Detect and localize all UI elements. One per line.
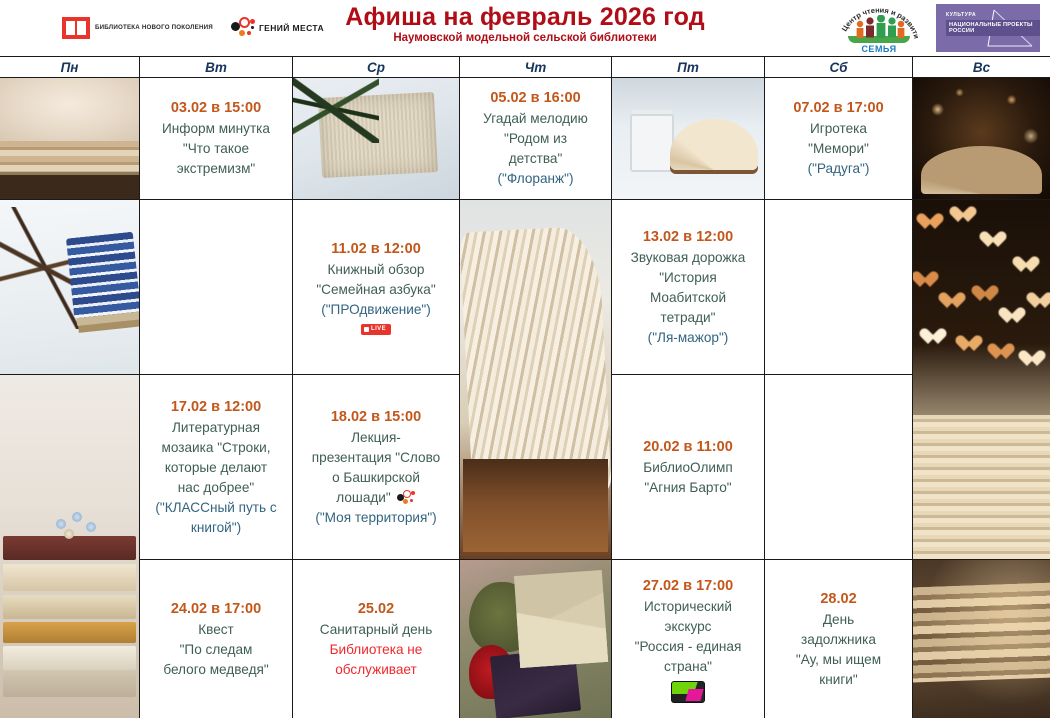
weekday-header-sun: Вс bbox=[913, 57, 1050, 77]
event-title-line: мозаика "Строки, bbox=[161, 438, 270, 458]
weekday-header-thu: Чт bbox=[460, 57, 612, 77]
photo-wartime-letters-canteen-and-carnation bbox=[460, 560, 611, 718]
calendar-cell-wed-4[interactable]: 25.02 Санитарный день Библиотека не обсл… bbox=[293, 560, 460, 718]
event-title-line: "Что такое bbox=[183, 139, 249, 159]
weekday-header-fri: Пт bbox=[612, 57, 765, 77]
event-title-line: Исторический bbox=[644, 597, 732, 617]
family-figures-icon bbox=[852, 15, 908, 41]
event-title-line: Литературная bbox=[172, 418, 260, 438]
event-title-line: "Родом из bbox=[504, 129, 567, 149]
event-title-line: лошади" bbox=[336, 488, 390, 508]
event-title-line: задолжника bbox=[801, 630, 876, 650]
calendar-cell-thu-4 bbox=[460, 560, 612, 718]
dots-cluster-icon bbox=[231, 17, 255, 39]
event-club: ("Ля-мажор") bbox=[648, 328, 729, 348]
event-card[interactable]: 13.02 в 12:00 Звуковая дорожка "История … bbox=[612, 200, 764, 374]
event-title-line: День bbox=[823, 610, 854, 630]
event-title-line: "История bbox=[659, 268, 717, 288]
event-title-line: которые делают bbox=[165, 458, 267, 478]
family-center-word: СЕМЬЯ bbox=[836, 44, 922, 54]
calendar-cell-fri-2[interactable]: 13.02 в 12:00 Звуковая дорожка "История … bbox=[612, 200, 765, 375]
event-card[interactable]: 25.02 Санитарный день Библиотека не обсл… bbox=[293, 560, 459, 718]
calendar-cell-sat-2 bbox=[765, 200, 913, 375]
library-new-generation-label: БИБЛИОТЕКА НОВОГО ПОКОЛЕНИЯ bbox=[95, 24, 213, 32]
calendar-cell-tue-2 bbox=[140, 200, 293, 375]
event-date: 28.02 bbox=[820, 589, 856, 609]
event-title-line: "Россия - единая bbox=[635, 637, 742, 657]
weekday-header-sat: Сб bbox=[765, 57, 913, 77]
photo-lantern-and-open-book-on-snow bbox=[612, 78, 764, 199]
calendar-grid: 03.02 в 15:00 Информ минутка "Что такое … bbox=[0, 78, 1050, 718]
photo-stacked-books-in-warm-light bbox=[913, 560, 1050, 718]
poster-root: БИБЛИОТЕКА НОВОГО ПОКОЛЕНИЯ ГЕНИЙ МЕСТА … bbox=[0, 0, 1050, 718]
event-alert-line: Библиотека не bbox=[330, 640, 423, 660]
family-center-logo: Центр чтения и развития bbox=[836, 1, 922, 55]
event-title-line: страна" bbox=[664, 657, 712, 677]
national-projects-label: НАЦИОНАЛЬНЫЕ ПРОЕКТЫ РОССИИ bbox=[946, 20, 1040, 36]
event-club: ("Моя территория") bbox=[315, 508, 436, 528]
event-title-line: Квест bbox=[198, 620, 234, 640]
event-date: 05.02 в 16:00 bbox=[490, 88, 580, 108]
open-book-icon bbox=[62, 17, 90, 39]
event-title-line: Лекция- bbox=[351, 428, 401, 448]
event-alert-line: обслуживает bbox=[335, 660, 417, 680]
event-date: 03.02 в 15:00 bbox=[171, 98, 261, 118]
calendar-cell-sat-4[interactable]: 28.02 День задолжника "Ау, мы ищем книги… bbox=[765, 560, 913, 718]
photo-stacked-books-with-dried-flowers bbox=[0, 375, 139, 718]
calendar-cell-tue-4[interactable]: 24.02 в 17:00 Квест "По следам белого ме… bbox=[140, 560, 293, 718]
event-badges: LIVE bbox=[361, 324, 391, 335]
event-date: 07.02 в 17:00 bbox=[793, 98, 883, 118]
event-club: ("ПРОдвижение") bbox=[321, 300, 431, 320]
genius-of-place-icon bbox=[397, 490, 416, 505]
poster-header: БИБЛИОТЕКА НОВОГО ПОКОЛЕНИЯ ГЕНИЙ МЕСТА … bbox=[0, 0, 1050, 56]
event-card[interactable]: 05.02 в 16:00 Угадай мелодию "Родом из д… bbox=[460, 78, 611, 199]
event-card[interactable]: 20.02 в 11:00 БиблиоОлимп "Агния Барто" bbox=[612, 375, 764, 559]
event-card[interactable]: 28.02 День задолжника "Ау, мы ищем книги… bbox=[765, 560, 912, 718]
event-title-line: книги" bbox=[819, 670, 857, 690]
pushkin-card-icon bbox=[671, 681, 705, 703]
calendar-cell-wed-1 bbox=[293, 78, 460, 200]
event-title-line: презентация "Слово bbox=[312, 448, 440, 468]
event-title-line: Звуковая дорожка bbox=[631, 248, 746, 268]
event-title-line: тетради" bbox=[661, 308, 716, 328]
event-date: 11.02 в 12:00 bbox=[331, 239, 421, 259]
photo-open-book-pages-on-wooden-table bbox=[460, 200, 611, 559]
event-title-line: детства" bbox=[509, 149, 563, 169]
event-club: ("Радуга") bbox=[808, 159, 870, 179]
calendar-cell-mon-2 bbox=[0, 200, 140, 375]
event-title-line: Угадай мелодию bbox=[483, 109, 588, 129]
event-date: 25.02 bbox=[358, 599, 394, 619]
event-card[interactable]: 18.02 в 15:00 Лекция- презентация "Слово… bbox=[293, 375, 459, 559]
event-card[interactable]: 07.02 в 17:00 Игротека "Мемори" ("Радуга… bbox=[765, 78, 912, 199]
calendar-cell-sat-1[interactable]: 07.02 в 17:00 Игротека "Мемори" ("Радуга… bbox=[765, 78, 913, 200]
national-projects-logo: КУЛЬТУРА НАЦИОНАЛЬНЫЕ ПРОЕКТЫ РОССИИ bbox=[936, 4, 1040, 52]
event-card[interactable]: 24.02 в 17:00 Квест "По следам белого ме… bbox=[140, 560, 292, 718]
event-title-line: Информ минутка bbox=[162, 119, 270, 139]
event-date: 17.02 в 12:00 bbox=[171, 397, 261, 417]
event-date: 20.02 в 11:00 bbox=[643, 437, 733, 457]
genius-of-place-logo: ГЕНИЙ МЕСТА bbox=[231, 17, 324, 39]
event-club: ("КЛАССный путь с книгой") bbox=[145, 498, 287, 538]
weekday-header-wed: Ср bbox=[293, 57, 460, 77]
calendar-cell-fri-4[interactable]: 27.02 в 17:00 Исторический экскурс "Росс… bbox=[612, 560, 765, 718]
weekday-header-tue: Вт bbox=[140, 57, 293, 77]
event-card[interactable]: 27.02 в 17:00 Исторический экскурс "Росс… bbox=[612, 560, 764, 718]
event-date: 18.02 в 15:00 bbox=[331, 407, 421, 427]
weekday-header-mon: Пн bbox=[0, 57, 140, 77]
calendar-cell-mon-3-4 bbox=[0, 375, 140, 718]
calendar-cell-thu-2-3 bbox=[460, 200, 612, 560]
event-title-line: "По следам bbox=[180, 640, 253, 660]
calendar-cell-wed-3[interactable]: 18.02 в 15:00 Лекция- презентация "Слово… bbox=[293, 375, 460, 560]
dark-book bbox=[490, 647, 581, 718]
photo-heart-bokeh-over-open-book bbox=[913, 200, 1050, 559]
calendar-cell-tue-3[interactable]: 17.02 в 12:00 Литературная мозаика "Стро… bbox=[140, 375, 293, 560]
event-date: 24.02 в 17:00 bbox=[171, 599, 261, 619]
event-club: ("Флоранж") bbox=[498, 169, 574, 189]
calendar-cell-sat-3 bbox=[765, 375, 913, 560]
event-title-line: Книжный обзор bbox=[327, 260, 424, 280]
event-title-line: Моабитской bbox=[650, 288, 726, 308]
live-badge-icon: LIVE bbox=[361, 324, 391, 335]
right-logo-group: Центр чтения и развития bbox=[836, 0, 1050, 56]
photo-open-book-in-snow-with-fir bbox=[293, 78, 459, 199]
photo-books-on-knitted-blanket bbox=[0, 78, 139, 199]
calendar-cell-tue-1[interactable]: 03.02 в 15:00 Информ минутка "Что такое … bbox=[140, 78, 293, 200]
calendar-cell-sun-4 bbox=[913, 560, 1050, 718]
event-title-line: "Агния Барто" bbox=[644, 478, 731, 498]
event-date: 13.02 в 12:00 bbox=[643, 227, 733, 247]
photo-open-book-with-warm-bokeh bbox=[913, 78, 1050, 199]
calendar-cell-wed-2[interactable]: 11.02 в 12:00 Книжный обзор "Семейная аз… bbox=[293, 200, 460, 375]
event-title-line: "Ау, мы ищем bbox=[796, 650, 881, 670]
event-title-line: Санитарный день bbox=[320, 620, 433, 640]
genius-of-place-label: ГЕНИЙ МЕСТА bbox=[259, 23, 324, 33]
event-date: 27.02 в 17:00 bbox=[643, 576, 733, 596]
event-card[interactable]: 11.02 в 12:00 Книжный обзор "Семейная аз… bbox=[293, 200, 459, 374]
event-card[interactable]: 17.02 в 12:00 Литературная мозаика "Стро… bbox=[140, 375, 292, 559]
calendar-cell-mon-1 bbox=[0, 78, 140, 200]
calendar-cell-sun-1 bbox=[913, 78, 1050, 200]
event-title-line: Игротека bbox=[810, 119, 867, 139]
national-projects-caption: КУЛЬТУРА bbox=[946, 12, 976, 18]
event-title-line: нас добрее" bbox=[178, 478, 254, 498]
event-line-with-badge: лошади" bbox=[336, 488, 415, 508]
library-new-generation-logo: БИБЛИОТЕКА НОВОГО ПОКОЛЕНИЯ bbox=[62, 17, 213, 39]
event-title-line: "Семейная азбука" bbox=[316, 280, 435, 300]
event-title-line: экстремизм" bbox=[177, 159, 256, 179]
calendar-cell-fri-3[interactable]: 20.02 в 11:00 БиблиоОлимп "Агния Барто" bbox=[612, 375, 765, 560]
event-card[interactable]: 03.02 в 15:00 Информ минутка "Что такое … bbox=[140, 78, 292, 199]
event-title-line: белого медведя" bbox=[163, 660, 268, 680]
calendar-cell-sun-2-3 bbox=[913, 200, 1050, 560]
photo-snowy-branches-and-blue-books bbox=[0, 200, 139, 374]
event-title-line: экскурс bbox=[665, 617, 712, 637]
open-book-base bbox=[913, 415, 1050, 559]
event-badges bbox=[671, 681, 705, 703]
event-title-line: БиблиоОлимп bbox=[643, 458, 732, 478]
calendar-cell-thu-1[interactable]: 05.02 в 16:00 Угадай мелодию "Родом из д… bbox=[460, 78, 612, 200]
weekday-header-row: Пн Вт Ср Чт Пт Сб Вс bbox=[0, 56, 1050, 78]
event-title-line: "Мемори" bbox=[808, 139, 869, 159]
event-title-line: о Башкирской bbox=[332, 468, 420, 488]
calendar-cell-fri-1 bbox=[612, 78, 765, 200]
left-logo-group: БИБЛИОТЕКА НОВОГО ПОКОЛЕНИЯ ГЕНИЙ МЕСТА bbox=[62, 17, 324, 39]
